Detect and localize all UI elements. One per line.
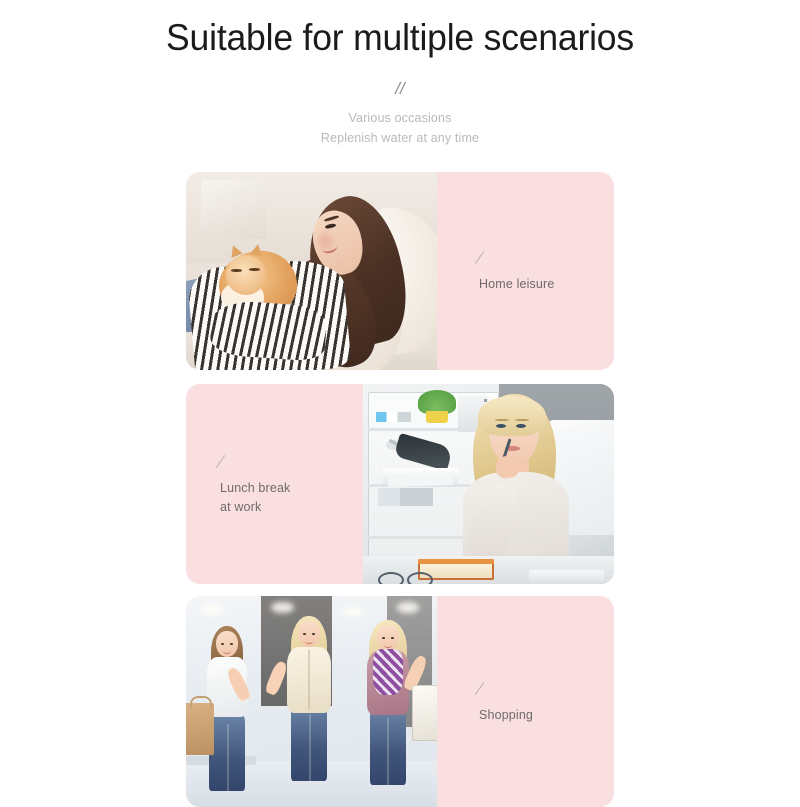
mini-slash-icon	[479, 679, 497, 693]
scenario-card-shopping[interactable]: Shopping	[186, 596, 614, 807]
page-title: Suitable for multiple scenarios	[16, 16, 784, 60]
scenario-label-lunch-break-at-work: Lunch break at work	[220, 479, 363, 517]
product-scenario-page: Suitable for multiple scenarios // Vario…	[0, 0, 800, 799]
scenario-card-home-leisure[interactable]: Home leisure	[186, 172, 614, 370]
scenario-label-shopping: Shopping	[479, 706, 614, 725]
scenario-image-home-leisure	[186, 172, 437, 370]
scenario-caption-panel-shopping: Shopping	[437, 596, 614, 807]
scenario-caption-panel-home-leisure: Home leisure	[437, 172, 614, 370]
scenario-image-shopping	[186, 596, 437, 807]
mini-slash-icon	[479, 248, 497, 262]
scenario-card-lunch-break-at-work[interactable]: Lunch break at work	[186, 384, 614, 584]
slash-divider-icon: //	[0, 80, 800, 98]
subtitle-line-1: Various occasions	[0, 108, 800, 128]
subtitle-line-2: Replenish water at any time	[0, 128, 800, 148]
scenario-image-lunch-break-at-work	[363, 384, 614, 584]
mini-slash-icon	[220, 452, 238, 466]
scenario-caption-panel-lunch-break-at-work: Lunch break at work	[186, 384, 363, 584]
page-header: Suitable for multiple scenarios // Vario…	[0, 0, 800, 148]
page-subtitle: Various occasions Replenish water at any…	[0, 108, 800, 149]
scenario-label-home-leisure: Home leisure	[479, 275, 614, 294]
